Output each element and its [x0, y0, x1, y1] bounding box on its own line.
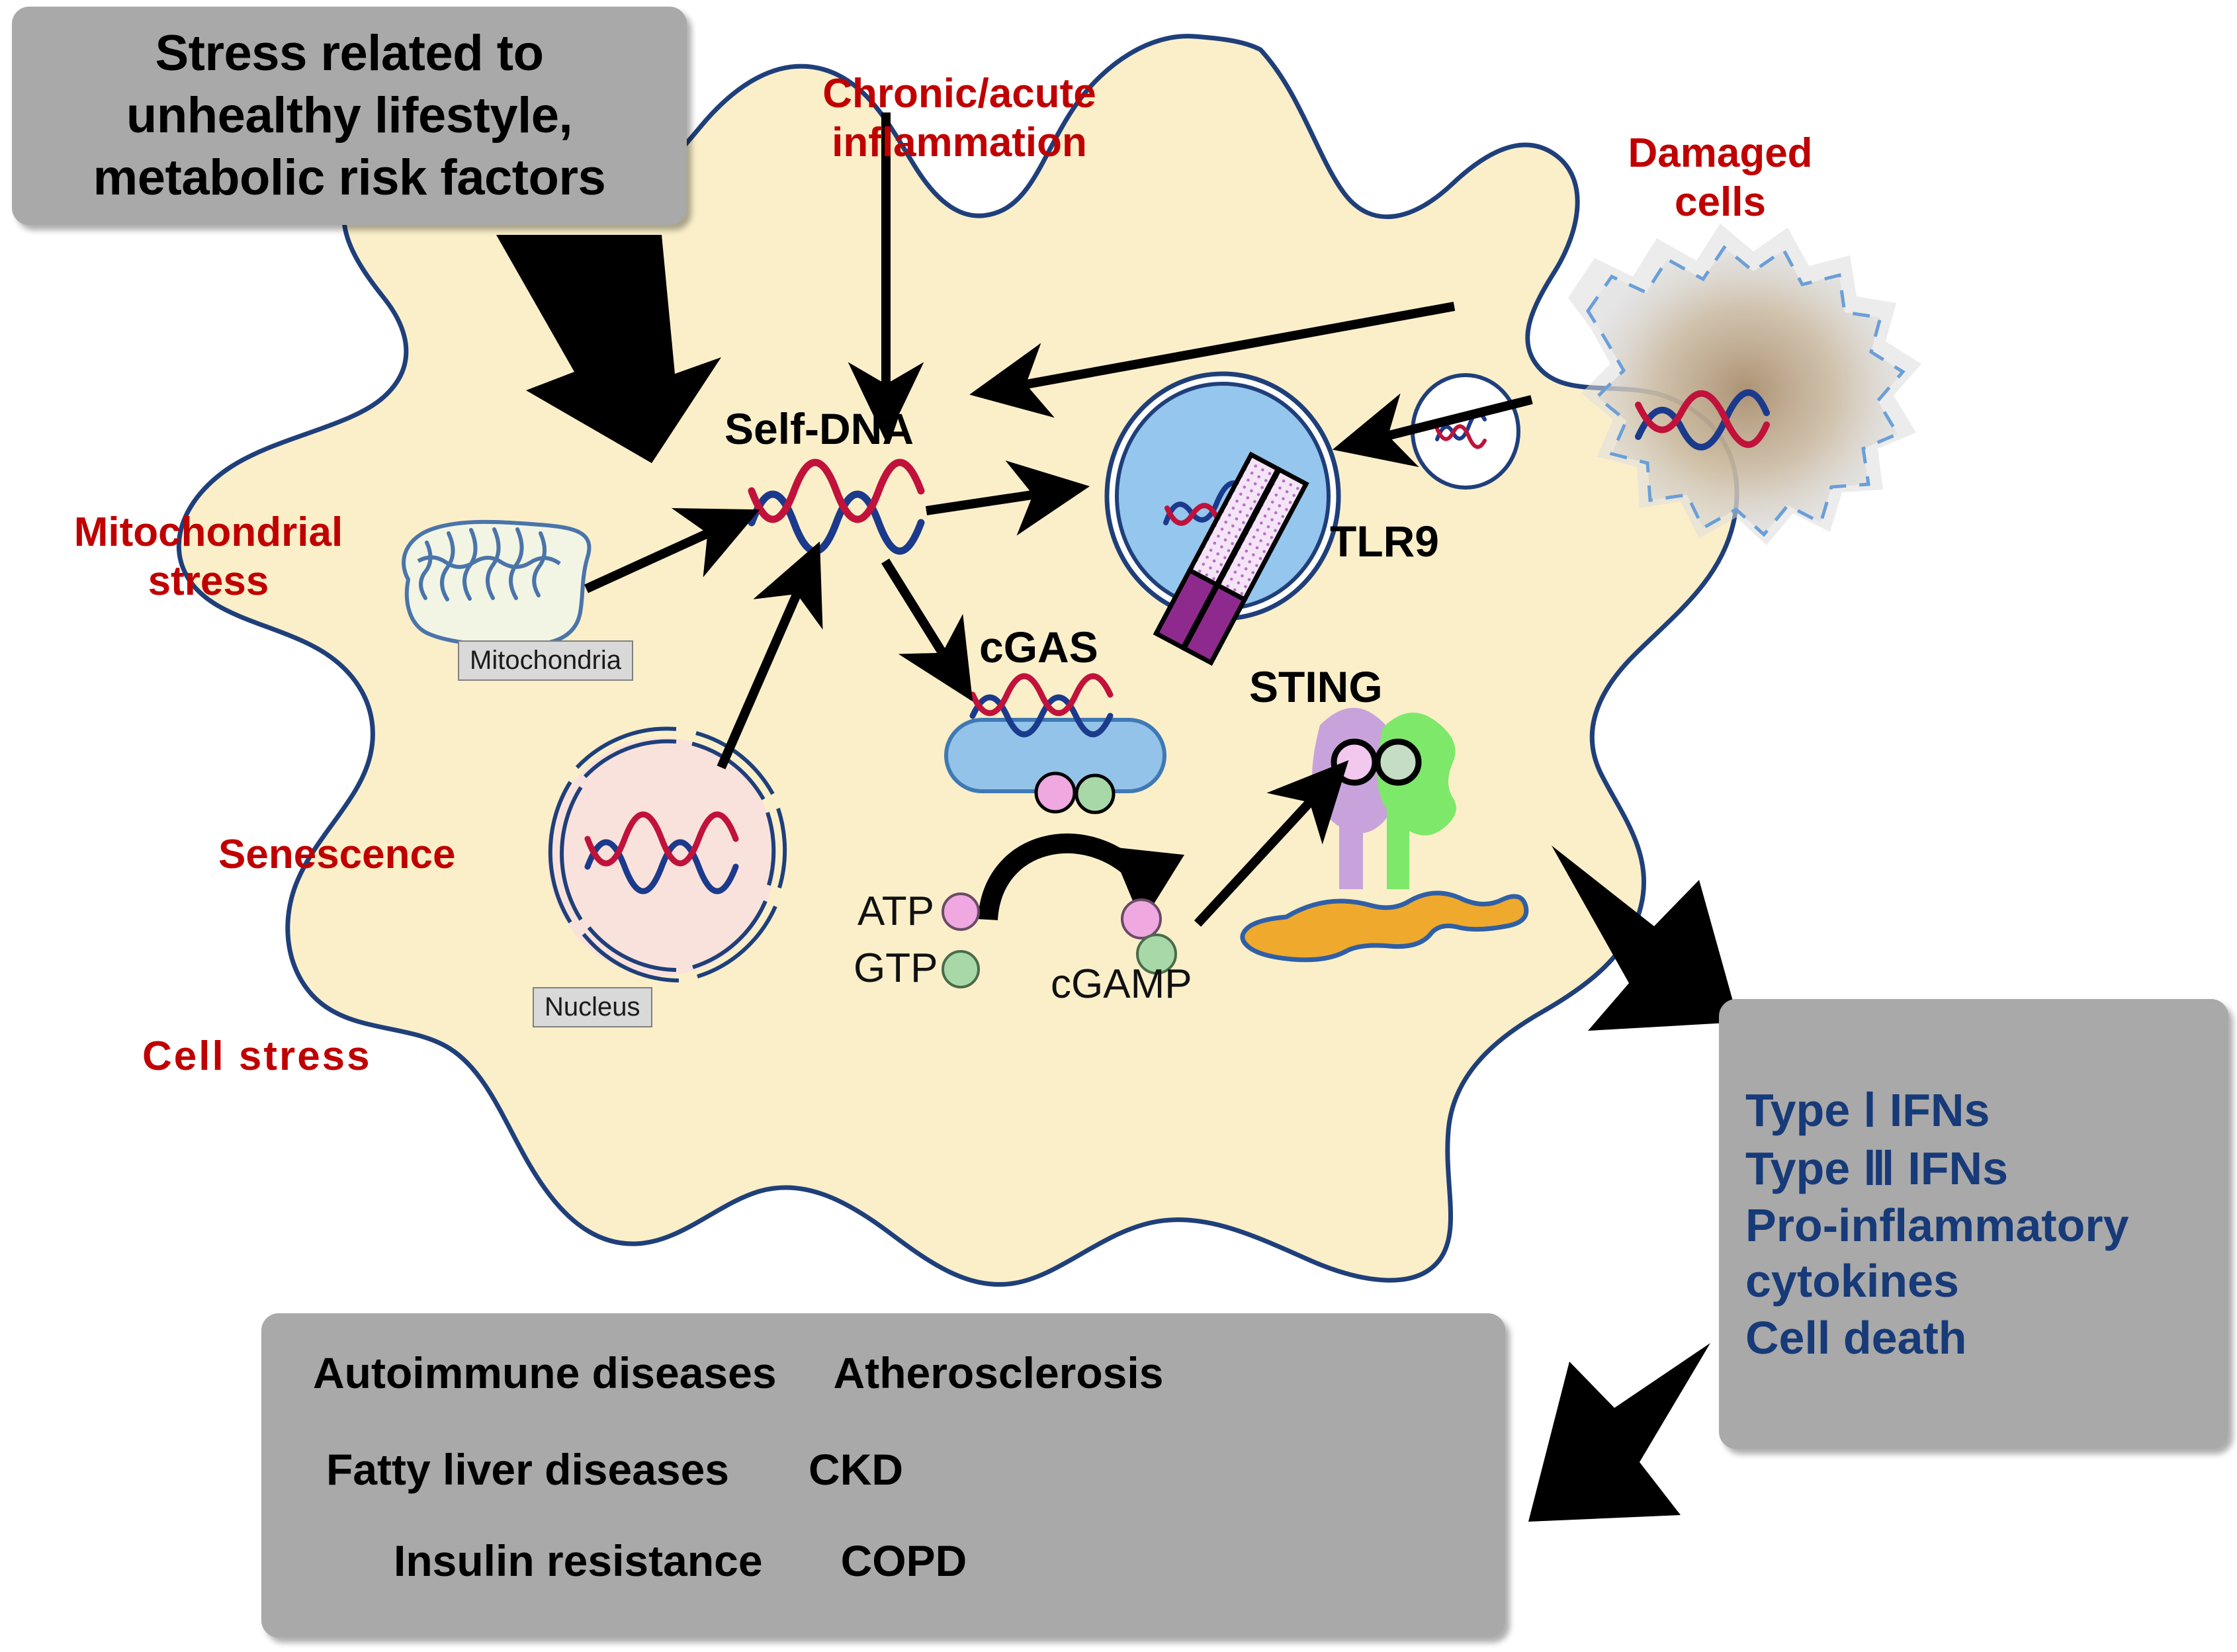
ifn-line-type1: Type Ⅰ IFNs: [1745, 1081, 2202, 1139]
label-inflammation: Chronic/acute inflammation: [787, 69, 1131, 167]
label-damaged-cells-line2: cells: [1588, 178, 1853, 227]
label-cgamp: cGAMP: [1051, 961, 1192, 1008]
arrow-ifn-to-diseases: [1528, 1343, 1710, 1522]
figure-canvas: Stress related to unhealthy lifestyle, m…: [0, 0, 2237, 1652]
stress-input-box: Stress related to unhealthy lifestyle, m…: [12, 7, 687, 225]
label-atp: ATP: [857, 888, 934, 935]
tag-mitochondria: Mitochondria: [458, 640, 633, 681]
label-mitochondrial-stress: Mitochondrial stress: [40, 508, 377, 606]
label-mito-stress-line2: stress: [40, 557, 377, 606]
vesicle-icon: [1413, 375, 1518, 488]
label-cell-stress: Cell stress: [142, 1032, 372, 1081]
mitochondria-icon: [404, 522, 589, 646]
ifn-line-cytokines: cytokines: [1745, 1253, 2202, 1309]
label-senescence: Senescence: [218, 830, 455, 879]
label-inflammation-line2: inflammation: [787, 118, 1131, 167]
ifn-line-proinflammatory: Pro-inflammatory: [1745, 1197, 2202, 1253]
ifn-output-box: Type Ⅰ IFNs Type Ⅲ IFNs Pro-inflammatory…: [1719, 999, 2228, 1449]
label-mito-stress-line1: Mitochondrial: [40, 508, 377, 557]
ifn-line-celldeath: Cell death: [1745, 1309, 2202, 1367]
label-damaged-cells: Damaged cells: [1588, 129, 1853, 227]
label-sting: STING: [1249, 662, 1383, 712]
disease-autoimmune: Autoimmune diseases: [313, 1348, 777, 1398]
disease-outcome-box: Autoimmune diseases Atherosclerosis Fatt…: [261, 1313, 1505, 1637]
tag-nucleus: Nucleus: [533, 987, 652, 1027]
disease-ckd: CKD: [809, 1444, 903, 1495]
label-gtp: GTP: [854, 945, 938, 992]
stress-line-2: unhealthy lifestyle,: [126, 85, 572, 147]
label-self-dna: Self-DNA: [724, 404, 914, 454]
label-cgas: cGAS: [979, 622, 1098, 672]
label-tlr9: TLR9: [1330, 516, 1439, 566]
disease-atherosclerosis: Atherosclerosis: [834, 1348, 1164, 1398]
stress-line-3: metabolic risk factors: [93, 147, 606, 209]
disease-insulinresistance: Insulin resistance: [394, 1536, 763, 1586]
label-inflammation-line1: Chronic/acute: [787, 69, 1131, 118]
stress-line-1: Stress related to: [155, 22, 543, 85]
disease-copd: COPD: [841, 1536, 967, 1586]
ifn-line-type3: Type Ⅲ IFNs: [1745, 1139, 2202, 1197]
disease-fattyliver: Fatty liver diseases: [326, 1444, 729, 1495]
label-damaged-cells-line1: Damaged: [1588, 129, 1853, 178]
